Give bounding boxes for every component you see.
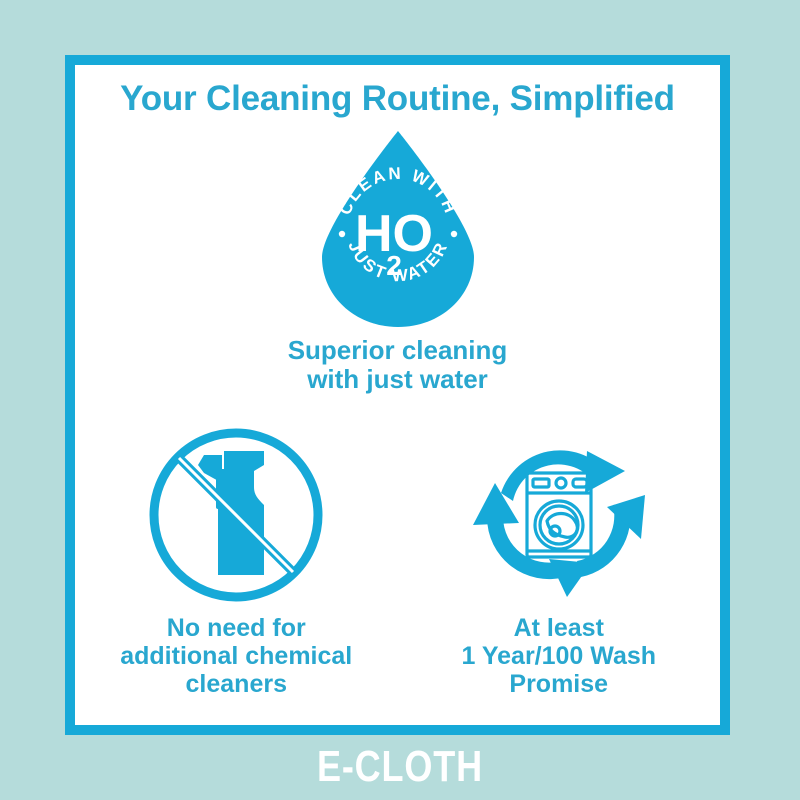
badge-dot-left xyxy=(338,231,344,237)
caption-line: No need for xyxy=(75,614,398,642)
page-title: Your Cleaning Routine, Simplified xyxy=(75,81,720,118)
content-card: Your Cleaning Routine, Simplified CLEAN … xyxy=(65,55,730,735)
formula-subscript-2: 2 xyxy=(386,250,402,281)
feature-caption-no-chemicals: No need for additional chemical cleaners xyxy=(75,614,398,698)
caption-line: cleaners xyxy=(75,670,398,698)
feature-row: No need for additional chemical cleaners xyxy=(75,420,720,698)
caption-line: At least xyxy=(398,614,721,642)
infographic-root: Your Cleaning Routine, Simplified CLEAN … xyxy=(0,0,800,800)
no-spray-bottle-icon xyxy=(146,425,326,605)
caption-line: with just water xyxy=(75,365,720,394)
caption-line: additional chemical xyxy=(75,642,398,670)
washing-machine-cycle-icon-wrap xyxy=(398,420,721,610)
water-drop-h2o-icon: CLEAN WITH JUST WATER HO 2 xyxy=(322,129,474,329)
feature-water-drop: CLEAN WITH JUST WATER HO 2 Superior clea… xyxy=(75,129,720,393)
no-spray-bottle-icon-wrap xyxy=(75,420,398,610)
caption-line: Superior cleaning xyxy=(75,336,720,365)
feature-caption-water-drop: Superior cleaning with just water xyxy=(75,336,720,393)
caption-line: 1 Year/100 Wash xyxy=(398,642,721,670)
feature-wash-promise: At least 1 Year/100 Wash Promise xyxy=(398,420,721,698)
water-drop-icon-wrap: CLEAN WITH JUST WATER HO 2 xyxy=(75,129,720,334)
brand-logo: E-CLOTH xyxy=(72,745,728,789)
feature-caption-wash-promise: At least 1 Year/100 Wash Promise xyxy=(398,614,721,698)
washing-machine-body xyxy=(527,473,591,557)
badge-dot-right xyxy=(450,231,456,237)
caption-line: Promise xyxy=(398,670,721,698)
washing-machine-cycle-icon xyxy=(469,425,649,605)
feature-no-chemicals: No need for additional chemical cleaners xyxy=(75,420,398,698)
